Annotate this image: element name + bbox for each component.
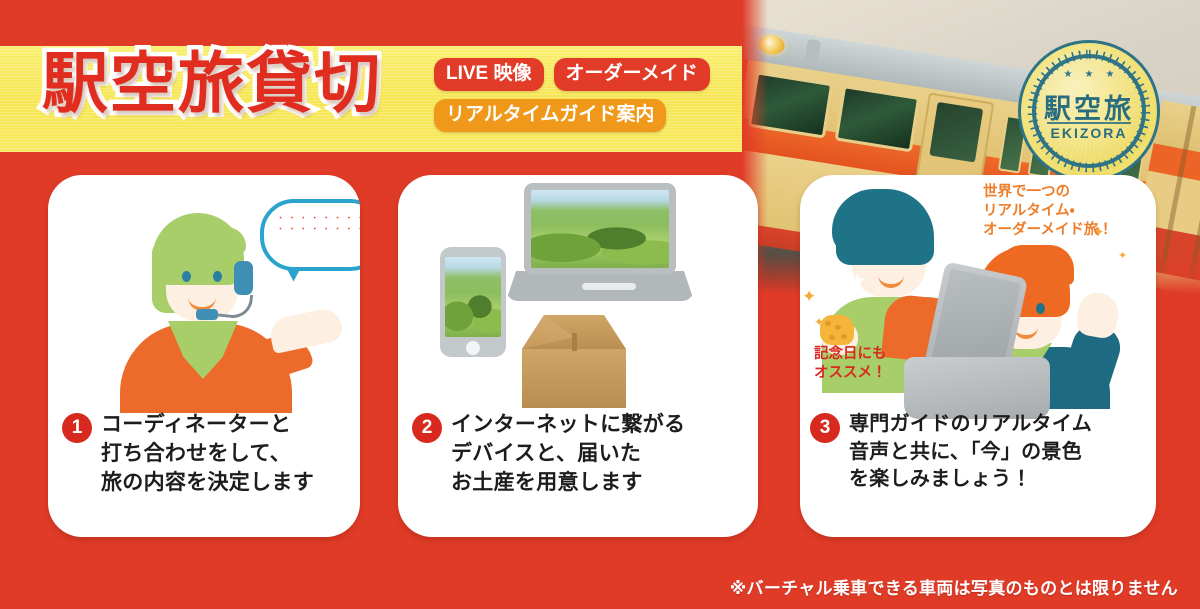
- card-2-lines: インターネットに繋がる デバイスと、届いた お土産を用意します: [451, 411, 685, 498]
- stamp-stars-icon: ★★★: [1021, 69, 1157, 80]
- card-2-text: 2 インターネットに繋がる デバイスと、届いた お土産を用意します: [398, 411, 758, 498]
- page-title: 駅空旅貸切: [42, 50, 382, 116]
- header-badges: LIVE 映像 オーダーメイド リアルタイムガイド案内: [434, 58, 734, 140]
- card-1-line-3: 旅の内容を決定します: [101, 469, 314, 498]
- parcel-box-icon: [522, 315, 626, 407]
- operator-eye-right: [213, 271, 222, 282]
- card-3-text: 3 専門ガイドのリアルタイム 音声と共に、「今」の景色 を楽しみましょう！: [800, 411, 1156, 494]
- step-number-badge-1: 1: [62, 413, 92, 443]
- card-3-note-bottom: 記念日にも オススメ！: [814, 345, 887, 383]
- person1-eye-right: [900, 249, 909, 260]
- person1-eye-left: [870, 249, 879, 260]
- card-2-line-3: お土産を用意します: [451, 469, 685, 498]
- stamp-sub-text: EKIZORA: [1021, 125, 1157, 141]
- step-number-badge-3: 3: [810, 413, 840, 443]
- card-2-line-2: デバイスと、届いた: [451, 440, 685, 469]
- card-2-line-1: インターネットに繋がる: [451, 411, 685, 440]
- step-card-2[interactable]: 2 インターネットに繋がる デバイスと、届いた お土産を用意します: [398, 175, 758, 537]
- step-card-1[interactable]: ・・・・・・・・・ ・・・・・・・・ 1 コーディネーターと 打ち合わせをして、…: [48, 175, 360, 537]
- headset-icon: [234, 261, 253, 295]
- operator-eye-left: [182, 271, 191, 282]
- footer-disclaimer: ※バーチャル乗車できる車両は写真のものとは限りません: [730, 574, 1178, 599]
- card-3-note-top: 世界で一つの リアルタイム・ オーダーメイド旅！: [983, 183, 1113, 240]
- badge-live-video[interactable]: LIVE 映像: [434, 58, 544, 91]
- stamp-main-text: 駅空旅: [1021, 87, 1157, 126]
- promo-banner: 駅空旅貸切 LIVE 映像 オーダーメイド リアルタイムガイド案内 ★★★ 駅空…: [0, 0, 1200, 609]
- laptop-open-icon: [906, 279, 1048, 395]
- badge-realtime-guide[interactable]: リアルタイムガイド案内: [434, 99, 666, 132]
- badge-order-made[interactable]: オーダーメイド: [554, 58, 710, 91]
- smartphone-icon: [440, 247, 506, 357]
- snack-icon: [820, 315, 854, 345]
- sparkle-icon-b: ✦: [814, 315, 824, 329]
- card-1-illustration: ・・・・・・・・・ ・・・・・・・・: [48, 175, 360, 407]
- card-3-illustration: ★ ✦ ✦ ✦ ✦ 世界で一つの リアルタイム・ オーダーメイド旅！ 記念日にも…: [800, 175, 1156, 407]
- sparkle-icon-a: ✦: [802, 287, 816, 307]
- laptop-icon: [524, 183, 676, 299]
- card-1-text: 1 コーディネーターと 打ち合わせをして、 旅の内容を決定します: [48, 411, 360, 498]
- ekizora-logo-stamp: ★★★ 駅空旅 EKIZORA: [1018, 40, 1160, 182]
- card-1-line-1: コーディネーターと: [101, 411, 314, 440]
- speech-bubble-dots: ・・・・・・・・・ ・・・・・・・・: [276, 213, 360, 235]
- card-1-lines: コーディネーターと 打ち合わせをして、 旅の内容を決定します: [101, 411, 314, 498]
- sparkle-icon-d: ✦: [1118, 249, 1127, 262]
- card-3-line-3: を楽しみましょう！: [849, 466, 1092, 494]
- stamp-divider: [1047, 122, 1131, 124]
- card-3-line-1: 専門ガイドのリアルタイム: [849, 411, 1092, 439]
- card-2-illustration: [398, 175, 758, 407]
- star-icon: ★: [848, 271, 867, 292]
- card-3-lines: 専門ガイドのリアルタイム 音声と共に、「今」の景色 を楽しみましょう！: [849, 411, 1092, 494]
- step-number-badge-2: 2: [412, 413, 442, 443]
- card-1-line-2: 打ち合わせをして、: [101, 440, 314, 469]
- speech-bubble-icon: [260, 199, 360, 271]
- step-card-3[interactable]: ★ ✦ ✦ ✦ ✦ 世界で一つの リアルタイム・ オーダーメイド旅！ 記念日にも…: [800, 175, 1156, 537]
- card-3-line-2: 音声と共に、「今」の景色: [849, 439, 1092, 467]
